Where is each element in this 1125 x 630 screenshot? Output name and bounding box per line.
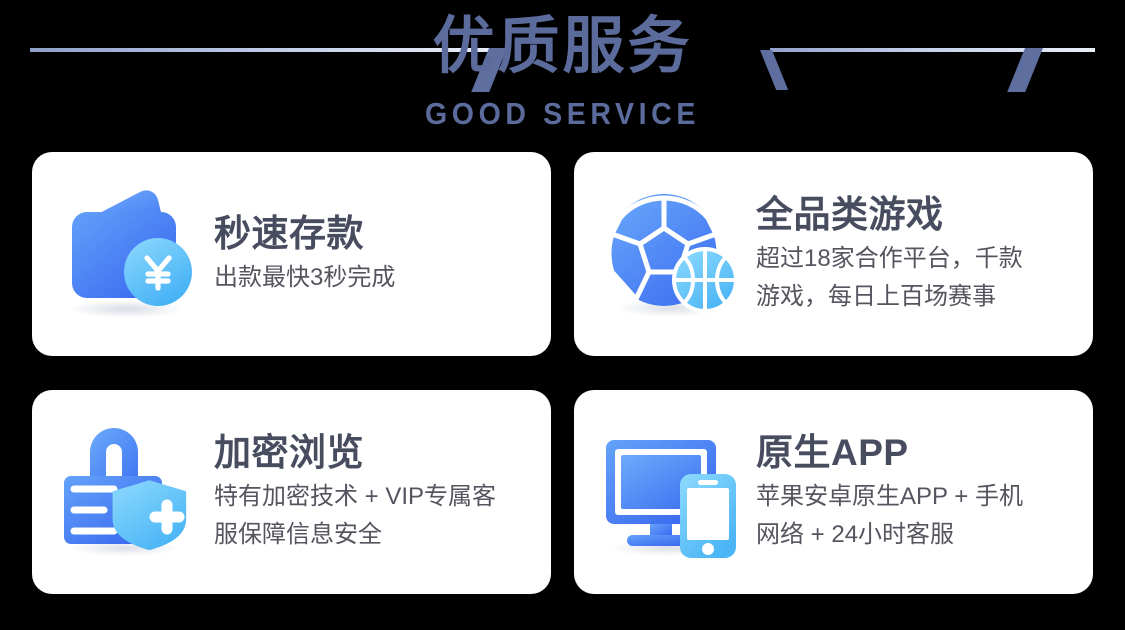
feature-card-subtitle-line: 特有加密技术 + VIP专属客: [214, 478, 539, 516]
feature-card-subtitle-line: 服保障信息安全: [214, 516, 539, 554]
feature-card-title: 秒速存款: [214, 211, 539, 257]
feature-card-text: 加密浏览 特有加密技术 + VIP专属客 服保障信息安全: [214, 430, 551, 554]
feature-card-subtitle-line: 网络 + 24小时客服: [756, 516, 1081, 554]
page-title: 优质服务: [0, 6, 1125, 88]
soccer-basketball-icon: [596, 184, 756, 324]
lock-shield-icon: [54, 422, 214, 562]
feature-card-text: 原生APP 苹果安卓原生APP + 手机 网络 + 24小时客服: [756, 430, 1093, 554]
feature-card-subtitle-line: 超过18家合作平台，千款: [756, 240, 1081, 278]
feature-card-subtitle-line: 游戏，每日上百场赛事: [756, 278, 1081, 316]
feature-card-subtitle: 苹果安卓原生APP + 手机 网络 + 24小时客服: [756, 478, 1081, 554]
feature-card-games[interactable]: 全品类游戏 超过18家合作平台，千款 游戏，每日上百场赛事: [574, 152, 1093, 356]
feature-card-title: 加密浏览: [214, 430, 539, 476]
feature-card-grid: 秒速存款 出款最快3秒完成: [32, 152, 1093, 594]
feature-card-subtitle-line: 苹果安卓原生APP + 手机: [756, 478, 1081, 516]
feature-card-encryption[interactable]: 加密浏览 特有加密技术 + VIP专属客 服保障信息安全: [32, 390, 551, 594]
feature-card-deposit[interactable]: 秒速存款 出款最快3秒完成: [32, 152, 551, 356]
feature-card-native-app[interactable]: 原生APP 苹果安卓原生APP + 手机 网络 + 24小时客服: [574, 390, 1093, 594]
feature-card-text: 秒速存款 出款最快3秒完成: [214, 211, 551, 297]
page-subtitle: GOOD SERVICE: [45, 96, 1080, 132]
feature-card-subtitle-line: 出款最快3秒完成: [214, 259, 539, 297]
feature-card-title: 原生APP: [756, 430, 1081, 476]
wallet-yen-icon: [54, 184, 214, 324]
feature-card-text: 全品类游戏 超过18家合作平台，千款 游戏，每日上百场赛事: [756, 192, 1093, 316]
feature-card-subtitle: 特有加密技术 + VIP专属客 服保障信息安全: [214, 478, 539, 554]
feature-card-subtitle: 出款最快3秒完成: [214, 259, 539, 297]
feature-card-title: 全品类游戏: [756, 192, 1081, 238]
feature-card-subtitle: 超过18家合作平台，千款 游戏，每日上百场赛事: [756, 240, 1081, 316]
page-header: 优质服务 GOOD SERVICE: [0, 0, 1125, 145]
monitor-phone-icon: [596, 422, 756, 562]
